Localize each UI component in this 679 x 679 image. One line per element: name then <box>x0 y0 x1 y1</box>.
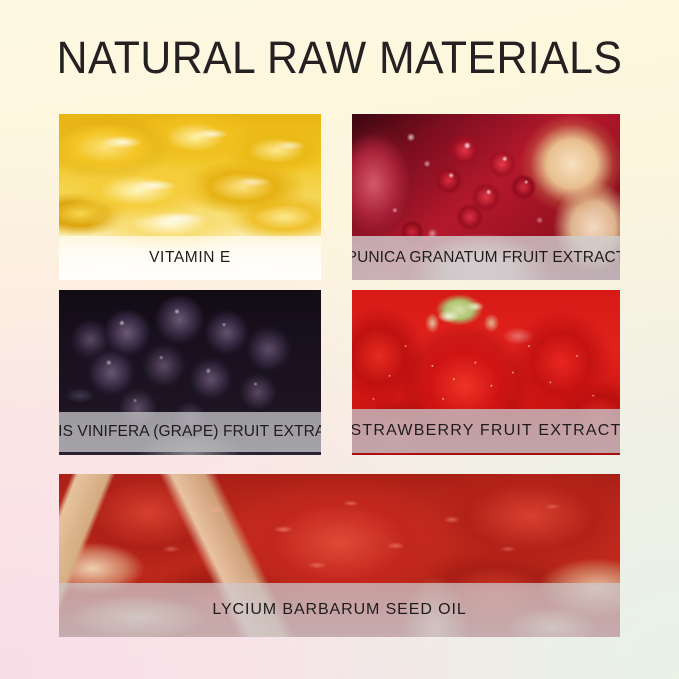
ingredient-card-strawberry: STRAWBERRY FRUIT EXTRACT <box>352 290 620 455</box>
ingredient-label: LYCIUM BARBARUM SEED OIL <box>212 602 466 618</box>
ingredient-label: VITIS VINIFERA (GRAPE) FRUIT EXTRACT <box>59 424 321 440</box>
page-title: NATURAL RAW MATERIALS <box>17 33 662 83</box>
ingredient-label-band: VITAMIN E <box>59 236 321 280</box>
ingredient-card-punica-granatum: PUNICA GRANATUM FRUIT EXTRACT <box>352 114 620 280</box>
ingredient-label-band: LYCIUM BARBARUM SEED OIL <box>59 583 620 637</box>
ingredient-label-band: VITIS VINIFERA (GRAPE) FRUIT EXTRACT <box>59 412 321 452</box>
ingredient-label-band: STRAWBERRY FRUIT EXTRACT <box>352 409 620 453</box>
infographic-poster: NATURAL RAW MATERIALS VITAMIN E PUNICA G… <box>0 0 679 679</box>
ingredient-label: VITAMIN E <box>149 250 231 266</box>
ingredient-label: PUNICA GRANATUM FRUIT EXTRACT <box>352 250 620 266</box>
ingredient-label-band: PUNICA GRANATUM FRUIT EXTRACT <box>352 236 620 280</box>
ingredient-card-vitis-vinifera: VITIS VINIFERA (GRAPE) FRUIT EXTRACT <box>59 290 321 455</box>
ingredient-card-lycium-barbarum: LYCIUM BARBARUM SEED OIL <box>59 474 620 637</box>
ingredient-label: STRAWBERRY FRUIT EXTRACT <box>352 423 620 439</box>
ingredient-card-vitamin-e: VITAMIN E <box>59 114 321 280</box>
